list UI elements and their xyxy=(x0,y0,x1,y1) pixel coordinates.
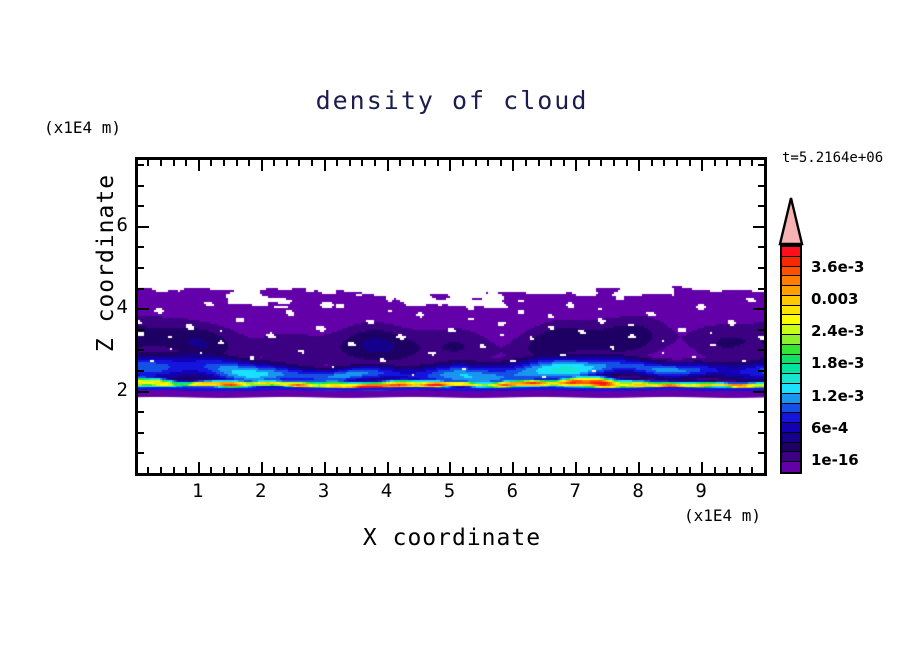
colorbar-tick-label: 1.2e-3 xyxy=(811,387,864,405)
colorbar-tick-label: 1e-16 xyxy=(811,451,859,469)
x-tick-label: 2 xyxy=(241,480,281,502)
y-tick-label: 2 xyxy=(88,379,128,401)
x-tick-label: 9 xyxy=(681,480,721,502)
x-tick-label: 3 xyxy=(304,480,344,502)
colorbar: 3.6e-30.0032.4e-31.8e-31.2e-36e-41e-16 xyxy=(775,196,904,486)
colorbar-tick-label: 6e-4 xyxy=(811,419,848,437)
colorbar-tick-label: 2.4e-3 xyxy=(811,322,864,340)
colorbar-tick-label: 3.6e-3 xyxy=(811,258,864,276)
x-tick-label: 7 xyxy=(555,480,595,502)
x-tick-label: 1 xyxy=(178,480,218,502)
x-tick-label: 5 xyxy=(429,480,469,502)
colorbar-tick-label: 0.003 xyxy=(811,290,858,308)
y-tick-label: 4 xyxy=(88,296,128,318)
y-tick-label: 6 xyxy=(88,214,128,236)
axis-ticklabel-layer: 123456789246 xyxy=(0,0,904,654)
colorbar-tick-label: 1.8e-3 xyxy=(811,354,864,372)
x-tick-label: 4 xyxy=(367,480,407,502)
x-tick-label: 8 xyxy=(618,480,658,502)
x-tick-label: 6 xyxy=(492,480,532,502)
colorbar-labels: 3.6e-30.0032.4e-31.8e-31.2e-36e-41e-16 xyxy=(775,196,904,486)
